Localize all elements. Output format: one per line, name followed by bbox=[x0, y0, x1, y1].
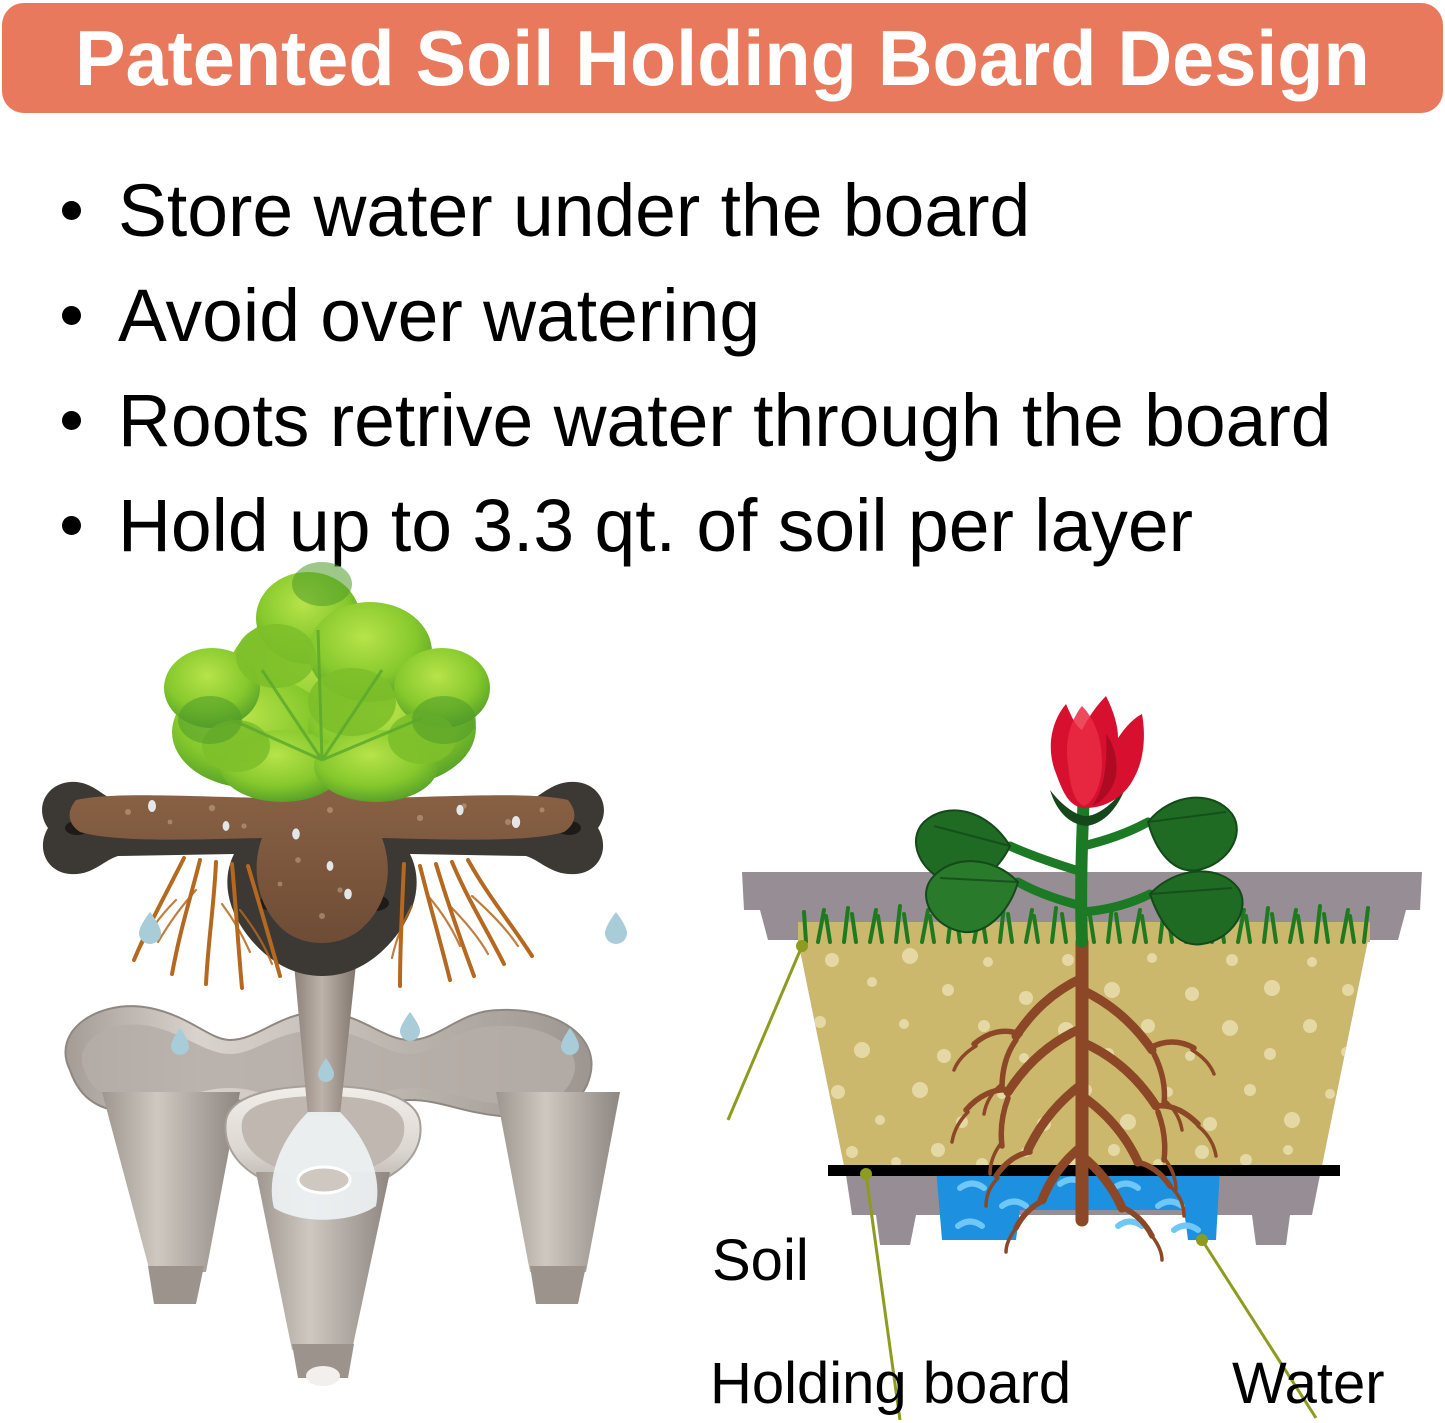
overflow-spout bbox=[298, 1167, 350, 1193]
bullet-point-icon bbox=[62, 201, 81, 220]
product-photo-stacked-planter bbox=[30, 560, 730, 1390]
list-item: Store water under the board bbox=[0, 158, 1445, 263]
list-item-label: Avoid over watering bbox=[118, 279, 760, 353]
branch-upper-left bbox=[1010, 846, 1082, 872]
leader-line-soil bbox=[728, 946, 802, 1120]
callout-label-soil: Soil bbox=[712, 1232, 809, 1290]
cone-left bbox=[102, 1092, 240, 1272]
soil-layer bbox=[780, 930, 1400, 1190]
bullet-point-icon bbox=[62, 516, 81, 535]
cone-right bbox=[496, 1092, 620, 1272]
cross-section-diagram bbox=[720, 660, 1445, 1420]
list-item-label: Store water under the board bbox=[118, 174, 1030, 248]
callout-label-water: Water bbox=[1232, 1355, 1385, 1413]
rose-flower bbox=[1051, 696, 1144, 808]
list-item-label: Hold up to 3.3 qt. of soil per layer bbox=[118, 489, 1193, 563]
header-banner: Patented Soil Holding Board Design bbox=[2, 3, 1443, 113]
leaf-upper-right bbox=[1148, 798, 1237, 871]
page-title: Patented Soil Holding Board Design bbox=[75, 19, 1370, 97]
leader-dot-holding-board bbox=[860, 1168, 872, 1180]
callout-label-holding-board: Holding board bbox=[710, 1355, 1071, 1413]
branch-upper-right bbox=[1083, 822, 1148, 846]
infographic-page: Patented Soil Holding Board Design Store… bbox=[0, 0, 1445, 1423]
list-item: Avoid over watering bbox=[0, 263, 1445, 368]
plant-foliage bbox=[164, 562, 490, 802]
list-item-label: Roots retrive water through the board bbox=[118, 384, 1332, 458]
bullet-point-icon bbox=[62, 411, 81, 430]
bullet-point-icon bbox=[62, 306, 81, 325]
drain-hole bbox=[306, 1366, 340, 1386]
planter-cross-section bbox=[720, 660, 1445, 1420]
leader-dot-soil bbox=[796, 940, 808, 952]
rose-plant bbox=[916, 696, 1243, 944]
feature-list: Store water under the board Avoid over w… bbox=[0, 150, 1445, 570]
leader-dot-water bbox=[1196, 1234, 1208, 1246]
plant-stem bbox=[1081, 790, 1084, 942]
stacked-planter-illustration bbox=[30, 560, 730, 1390]
cone-right-foot bbox=[530, 1266, 586, 1304]
list-item: Roots retrive water through the board bbox=[0, 368, 1445, 473]
cone-left-foot bbox=[148, 1266, 204, 1304]
